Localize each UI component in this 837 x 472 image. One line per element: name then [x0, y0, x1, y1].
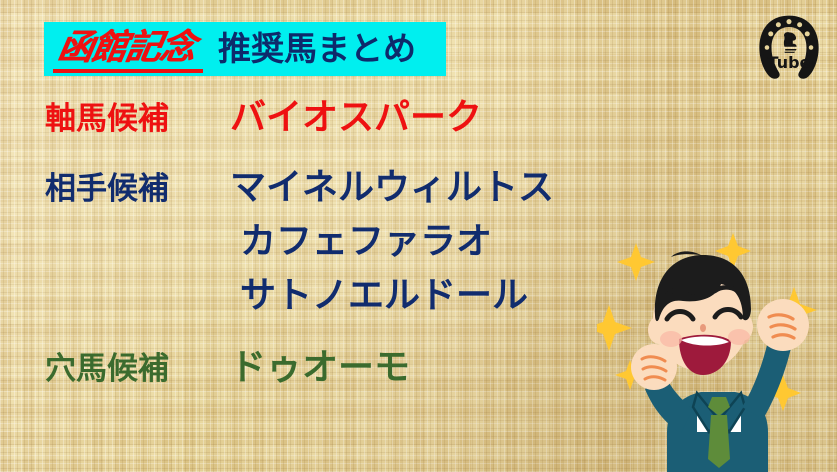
row-rival-horses: 相手候補 マイネルウィルトス [45, 168, 554, 208]
label-longshot: 穴馬候補 [45, 352, 230, 386]
race-name: 函館記念 [55, 29, 198, 67]
horse-rival-2: カフェファラオ [240, 222, 492, 262]
race-name-wrap: 函館記念 [58, 29, 194, 69]
label-anchor: 軸馬候補 [45, 102, 230, 136]
row-rival-horse-3: サトノエルドール [240, 276, 528, 316]
horse-rival-1: マイネルウィルトス [230, 168, 554, 208]
horseshoe-icon: Tube [751, 8, 827, 84]
row-anchor-horse: 軸馬候補 バイオスパーク [45, 98, 482, 138]
thumbnail-canvas: 函館記念 推奨馬まとめ 軸馬候補 バイオスパーク 相手候補 マイネルウィルトス … [0, 0, 837, 472]
horse-rival-3: サトノエルドール [240, 276, 528, 316]
horse-longshot-1: ドゥオーモ [230, 348, 410, 388]
label-rivals: 相手候補 [45, 172, 230, 206]
headline-banner: 函館記念 推奨馬まとめ [44, 22, 446, 76]
channel-logo: Tube [751, 8, 827, 84]
row-longshot-horse: 穴馬候補 ドゥオーモ [45, 348, 410, 388]
logo-text: Tube [768, 53, 811, 72]
race-name-underline [53, 69, 203, 73]
horse-anchor-1: バイオスパーク [230, 98, 482, 138]
horse-head-icon [784, 32, 797, 53]
headline-subtitle: 推奨馬まとめ [218, 31, 416, 67]
row-rival-horse-2: カフェファラオ [240, 222, 492, 262]
